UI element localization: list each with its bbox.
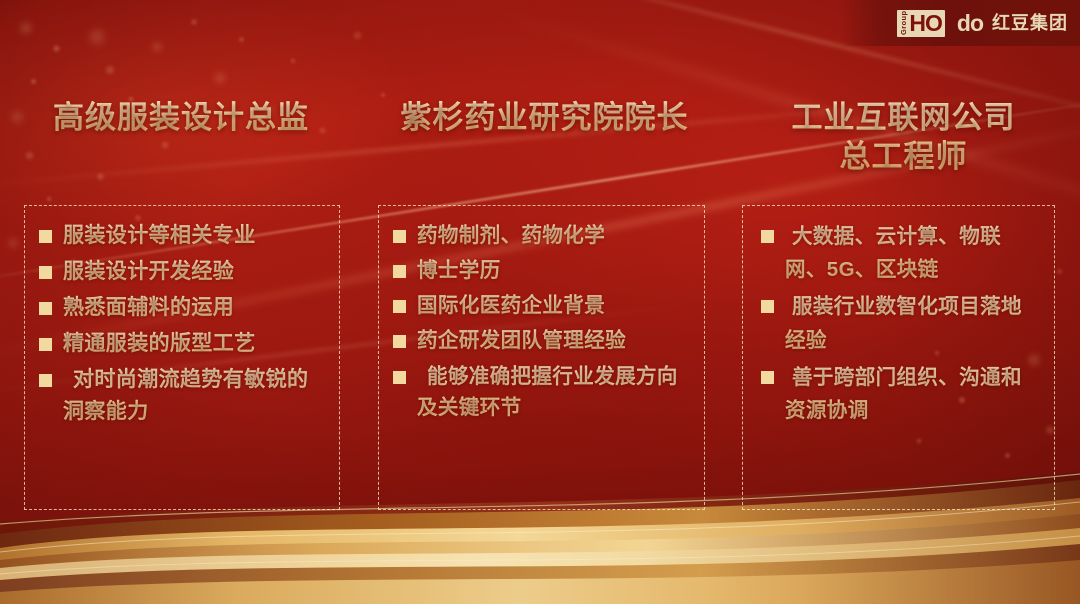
requirement-text: 服装设计等相关专业	[63, 220, 256, 252]
brand-logo: Group HO do 红豆集团	[840, 0, 1080, 46]
bullet-square-icon	[761, 300, 774, 313]
bokeh-particle	[46, 196, 52, 202]
requirement-item: 精通服装的版型工艺	[39, 328, 327, 360]
requirement-item: 服装行业数智化项目落地经验	[761, 290, 1042, 356]
bullet-square-icon	[39, 338, 52, 351]
requirements-list-3: 大数据、云计算、物联网、5G、区块链服装行业数智化项目落地经验善于跨部门组织、沟…	[743, 220, 1054, 431]
bullet-square-icon	[393, 265, 406, 278]
bullet-square-icon	[761, 230, 774, 243]
requirement-text: 大数据、云计算、物联网、5G、区块链	[785, 220, 1042, 286]
requirements-list-2: 药物制剂、药物化学博士学历国际化医药企业背景药企研发团队管理经验能够准确把握行业…	[379, 220, 704, 427]
column-heading-3: 工业互联网公司 总工程师	[727, 98, 1080, 186]
requirement-item: 国际化医药企业背景	[393, 290, 692, 321]
requirement-text: 能够准确把握行业发展方向及关键环节	[417, 361, 692, 423]
logo-chinese-name: 红豆集团	[992, 14, 1068, 32]
requirement-text: 服装行业数智化项目落地经验	[785, 290, 1042, 356]
bullet-square-icon	[39, 302, 52, 315]
bokeh-particle	[1060, 560, 1070, 570]
logo-group-label: Group	[899, 11, 908, 35]
hodo-logo-mark: Group HO	[897, 10, 945, 37]
bokeh-particle	[30, 78, 37, 85]
requirement-text: 精通服装的版型工艺	[63, 328, 256, 360]
heading-text: 工业互联网公司 总工程师	[792, 98, 1016, 176]
requirement-text: 善于跨部门组织、沟通和资源协调	[785, 361, 1042, 427]
requirement-item: 药物制剂、药物化学	[393, 220, 692, 251]
bullet-square-icon	[39, 230, 52, 243]
requirement-text: 国际化医药企业背景	[417, 290, 605, 321]
bullet-square-icon	[39, 266, 52, 279]
requirement-text: 服装设计开发经验	[63, 256, 234, 288]
bokeh-particle	[900, 520, 911, 531]
bokeh-particle	[290, 58, 296, 64]
requirement-item: 博士学历	[393, 255, 692, 286]
requirement-item: 熟悉面辅料的运用	[39, 292, 327, 324]
bokeh-particle	[238, 36, 245, 43]
bokeh-particle	[212, 70, 228, 86]
bokeh-particle	[790, 520, 796, 526]
requirements-box-3: 大数据、云计算、物联网、5G、区块链服装行业数智化项目落地经验善于跨部门组织、沟…	[742, 205, 1055, 510]
bokeh-particle	[18, 20, 34, 36]
requirements-box-2: 药物制剂、药物化学博士学历国际化医药企业背景药企研发团队管理经验能够准确把握行业…	[378, 205, 705, 510]
bullet-square-icon	[393, 300, 406, 313]
requirement-item: 服装设计等相关专业	[39, 220, 327, 252]
requirement-item: 对时尚潮流趋势有敏锐的洞察能力	[39, 364, 327, 428]
bokeh-particle	[52, 44, 61, 53]
requirement-text: 对时尚潮流趋势有敏锐的洞察能力	[63, 364, 327, 428]
bokeh-particle	[150, 40, 164, 54]
bokeh-particle	[352, 30, 363, 41]
column-headings-row: 高级服装设计总监 紫杉药业研究院院长 工业互联网公司 总工程师	[0, 98, 1080, 186]
requirements-box-1: 服装设计等相关专业服装设计开发经验熟悉面辅料的运用精通服装的版型工艺对时尚潮流趋…	[24, 205, 340, 510]
heading-text: 高级服装设计总监	[53, 98, 309, 137]
column-heading-1: 高级服装设计总监	[0, 98, 362, 186]
requirement-text: 药物制剂、药物化学	[417, 220, 605, 251]
bullet-square-icon	[761, 371, 774, 384]
requirements-list-1: 服装设计等相关专业服装设计开发经验熟悉面辅料的运用精通服装的版型工艺对时尚潮流趋…	[25, 220, 339, 431]
logo-do-text: do	[957, 12, 983, 35]
requirement-text: 药企研发团队管理经验	[417, 325, 626, 356]
bokeh-particle	[86, 26, 108, 48]
bokeh-particle	[190, 18, 198, 26]
bullet-square-icon	[39, 374, 52, 387]
bokeh-particle	[986, 548, 993, 555]
requirement-item: 能够准确把握行业发展方向及关键环节	[393, 361, 692, 423]
bullet-square-icon	[393, 230, 406, 243]
requirement-item: 药企研发团队管理经验	[393, 325, 692, 356]
bokeh-particle	[930, 576, 939, 585]
bullet-square-icon	[393, 335, 406, 348]
bullet-square-icon	[393, 371, 406, 384]
column-heading-2: 紫杉药业研究院院长	[362, 98, 727, 186]
bokeh-particle	[1056, 268, 1063, 275]
requirement-text: 博士学历	[417, 255, 501, 286]
heading-text: 紫杉药业研究院院长	[401, 98, 689, 137]
bokeh-particle	[104, 64, 116, 76]
requirement-item: 大数据、云计算、物联网、5G、区块链	[761, 220, 1042, 286]
requirement-item: 服装设计开发经验	[39, 256, 327, 288]
slide-canvas: Group HO do 红豆集团 高级服装设计总监 紫杉药业研究院院长 工业互联…	[0, 0, 1080, 604]
requirement-item: 善于跨部门组织、沟通和资源协调	[761, 361, 1042, 427]
bokeh-particle	[6, 236, 20, 250]
requirement-text: 熟悉面辅料的运用	[63, 292, 234, 324]
logo-ho-text: HO	[909, 12, 942, 35]
